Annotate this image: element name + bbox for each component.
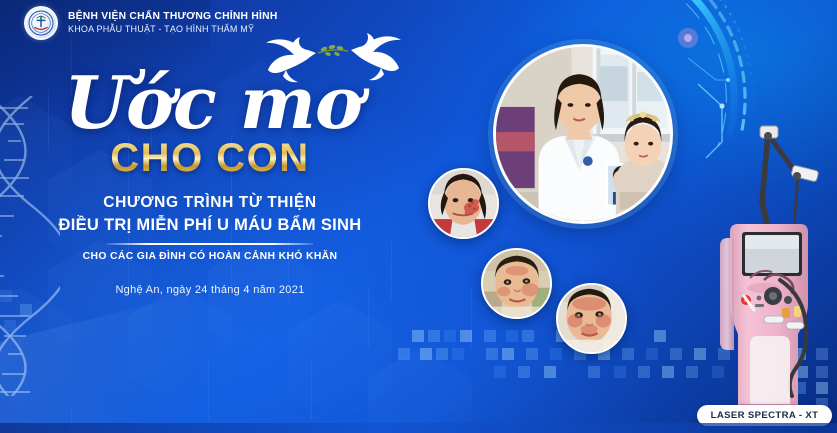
equipment-label-text: LASER SPECTRA - XT (711, 410, 819, 421)
department-name: KHOA PHẪU THUẬT - TẠO HÌNH THẨM MỸ (68, 24, 278, 35)
poster-script-title: Ước mơ (0, 72, 420, 134)
hospital-header: BỆNH VIỆN CHẤN THƯƠNG CHỈNH HÌNH KHOA PH… (24, 6, 278, 40)
poster-gold-title: CHO CON (0, 138, 420, 178)
event-date-line: Nghệ An, ngày 24 tháng 4 năm 2021 (0, 284, 420, 296)
title-block: Ước mơ CHO CON CHƯƠNG TRÌNH TỪ THIỆN ĐIỀ… (0, 72, 420, 296)
hospital-emblem-icon (24, 6, 58, 40)
subtitle-group: CHƯƠNG TRÌNH TỪ THIỆN ĐIỀU TRỊ MIỄN PHÍ … (0, 192, 420, 262)
patient-photo-infant-face-birthmark (556, 283, 627, 354)
divider-rule (107, 243, 313, 245)
doctor-with-child-photo (493, 44, 673, 224)
patient-photo-girl-cheek-birthmark (428, 168, 499, 239)
charity-program-poster: BỆNH VIỆN CHẤN THƯƠNG CHỈNH HÌNH KHOA PH… (0, 0, 837, 433)
pixel-square-mosaic-left (0, 290, 60, 350)
subtitle-line-2: ĐIỀU TRỊ MIỄN PHÍ U MÁU BẨM SINH (0, 214, 420, 236)
bottom-accent-bar (0, 423, 837, 433)
subtitle-line-3: CHO CÁC GIA ĐÌNH CÓ HOÀN CẢNH KHÓ KHĂN (0, 251, 420, 262)
subtitle-line-1: CHƯƠNG TRÌNH TỪ THIỆN (0, 192, 420, 214)
pink-laser-machine-photo: onuk (700, 120, 837, 420)
patient-photo-baby-face-birthmark (481, 248, 552, 319)
hospital-name: BỆNH VIỆN CHẤN THƯƠNG CHỈNH HÌNH (68, 11, 278, 24)
